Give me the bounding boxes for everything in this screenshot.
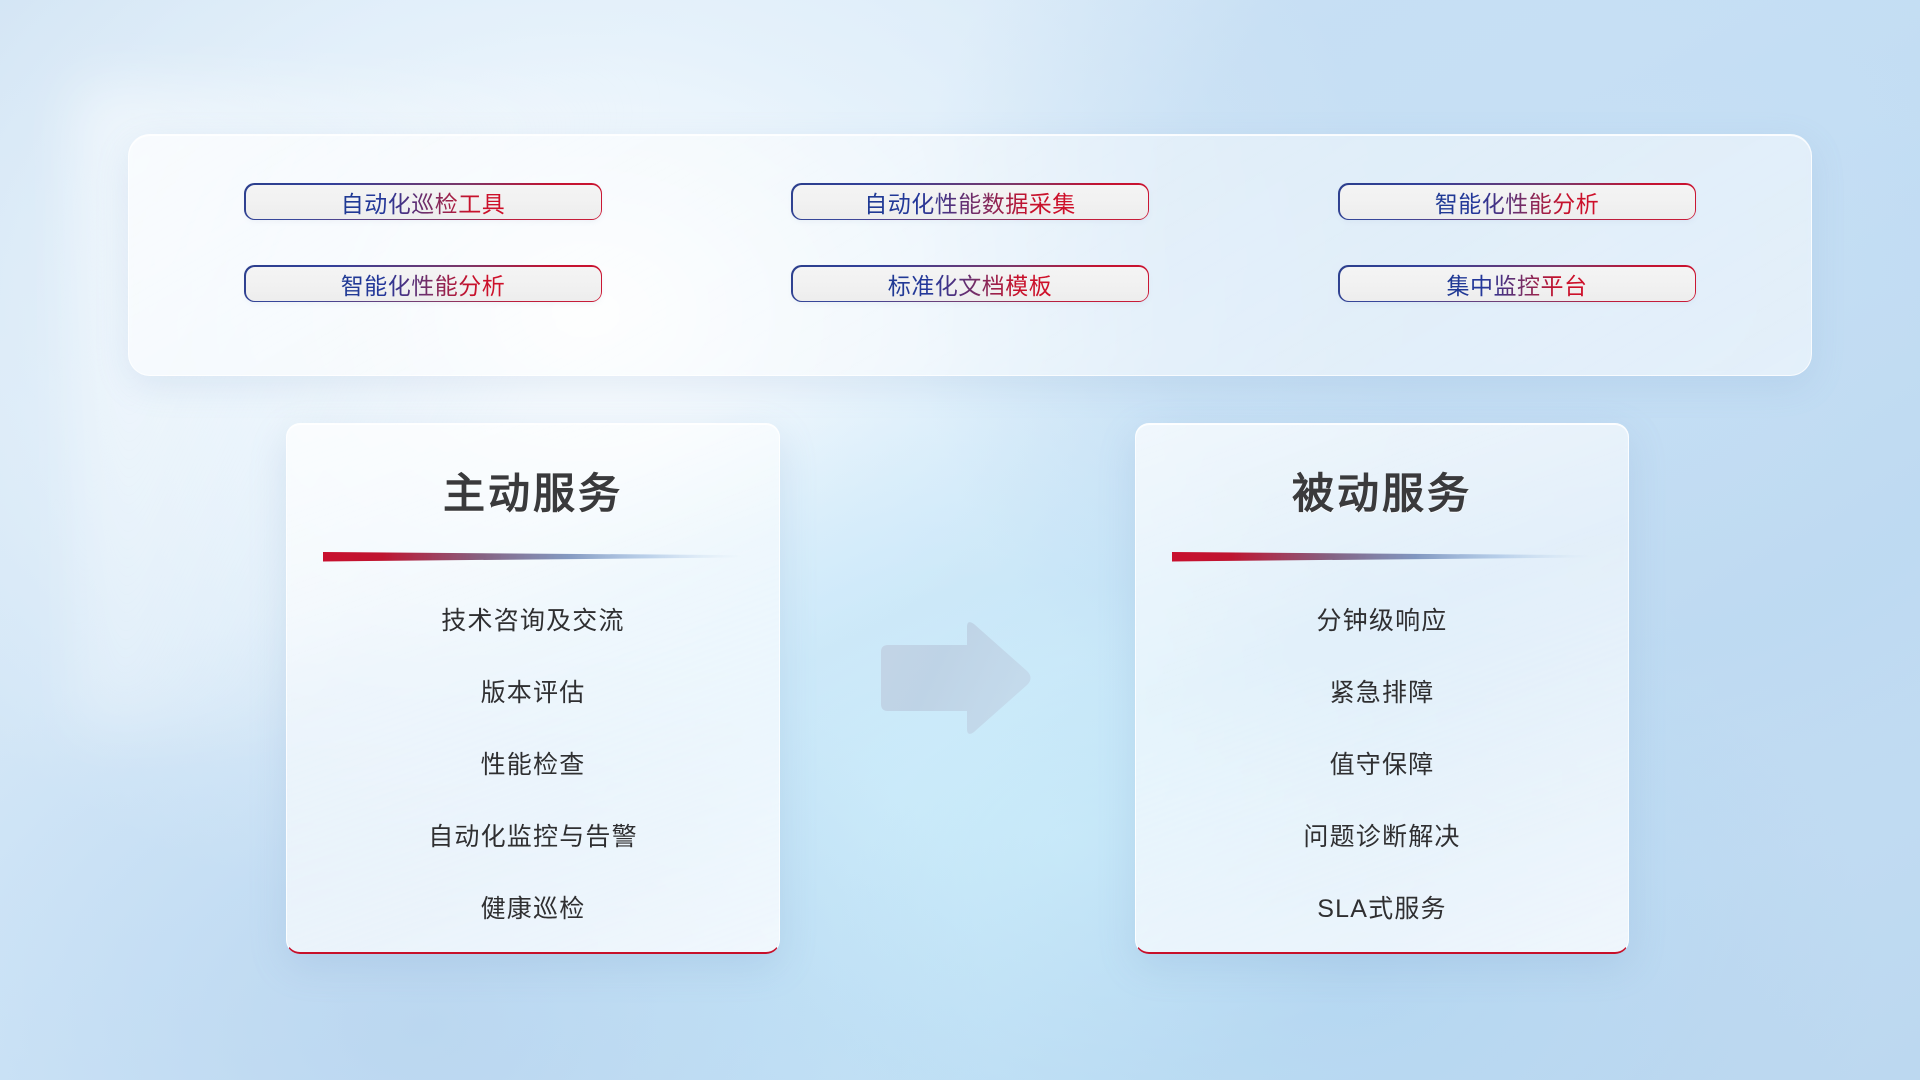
chip-label: 智能化性能分析 [1435, 185, 1600, 219]
capability-chip-intelligent-performance-analysis-b[interactable]: 智能化性能分析 [246, 267, 601, 301]
list-item[interactable]: 问题诊断解决 [1136, 811, 1628, 864]
capability-chip-centralized-monitoring-platform[interactable]: 集中监控平台 [1340, 267, 1695, 301]
capability-chip-intelligent-performance-analysis-a[interactable]: 智能化性能分析 [1340, 185, 1695, 219]
chip-wrapper-4: 标准化文档模板 [793, 267, 1148, 328]
chip-wrapper-2: 智能化性能分析 [1340, 185, 1695, 246]
service-card-proactive: 主动服务 技术咨询及交流 版本评估 性能检查 [286, 423, 780, 954]
list-item[interactable]: 自动化监控与告警 [287, 811, 779, 864]
chip-wrapper-5: 集中监控平台 [1340, 267, 1695, 328]
chip-label: 集中监控平台 [1447, 267, 1588, 301]
card-title: 主动服务 [287, 460, 779, 521]
capability-chip-automated-performance-data-collection[interactable]: 自动化性能数据采集 [793, 185, 1148, 219]
chip-label: 标准化文档模板 [888, 267, 1053, 301]
list-item[interactable]: 版本评估 [287, 667, 779, 720]
card-item-list: 技术咨询及交流 版本评估 性能检查 自动化监控与告警 健康巡检 [287, 595, 779, 954]
capability-chip-standardized-document-template[interactable]: 标准化文档模板 [793, 267, 1148, 301]
list-item[interactable]: 性能检查 [287, 739, 779, 792]
capability-chip-grid: 自动化巡检工具 自动化性能数据采集 智能化性能分析 智能化性能分析 [129, 135, 1811, 375]
flow-arrow [875, 618, 1035, 738]
chip-wrapper-1: 自动化性能数据采集 [793, 185, 1148, 246]
chip-label: 智能化性能分析 [341, 267, 506, 301]
card-title-divider [1172, 551, 1592, 563]
list-item[interactable]: 紧急排障 [1136, 667, 1628, 720]
capability-chip-automated-inspection-tool[interactable]: 自动化巡检工具 [246, 185, 601, 219]
card-title-divider [323, 551, 743, 563]
capability-chips-panel: 自动化巡检工具 自动化性能数据采集 智能化性能分析 智能化性能分析 [128, 134, 1812, 376]
chip-label: 自动化巡检工具 [341, 185, 506, 219]
chip-wrapper-3: 智能化性能分析 [246, 267, 601, 328]
chip-label: 自动化性能数据采集 [864, 185, 1076, 219]
card-title: 被动服务 [1136, 460, 1628, 521]
list-item[interactable]: SLA式服务 [1136, 883, 1628, 936]
list-item[interactable]: 健康巡检 [287, 883, 779, 936]
list-item[interactable]: 值守保障 [1136, 739, 1628, 792]
card-item-list: 分钟级响应 紧急排障 值守保障 问题诊断解决 SLA式服务 [1136, 595, 1628, 954]
service-card-reactive: 被动服务 分钟级响应 紧急排障 值守保障 [1135, 423, 1629, 954]
chip-wrapper-0: 自动化巡检工具 [246, 185, 601, 246]
list-item[interactable]: 分钟级响应 [1136, 595, 1628, 648]
list-item[interactable]: 技术咨询及交流 [287, 595, 779, 648]
diagram-stage: 自动化巡检工具 自动化性能数据采集 智能化性能分析 智能化性能分析 [0, 0, 1920, 1080]
